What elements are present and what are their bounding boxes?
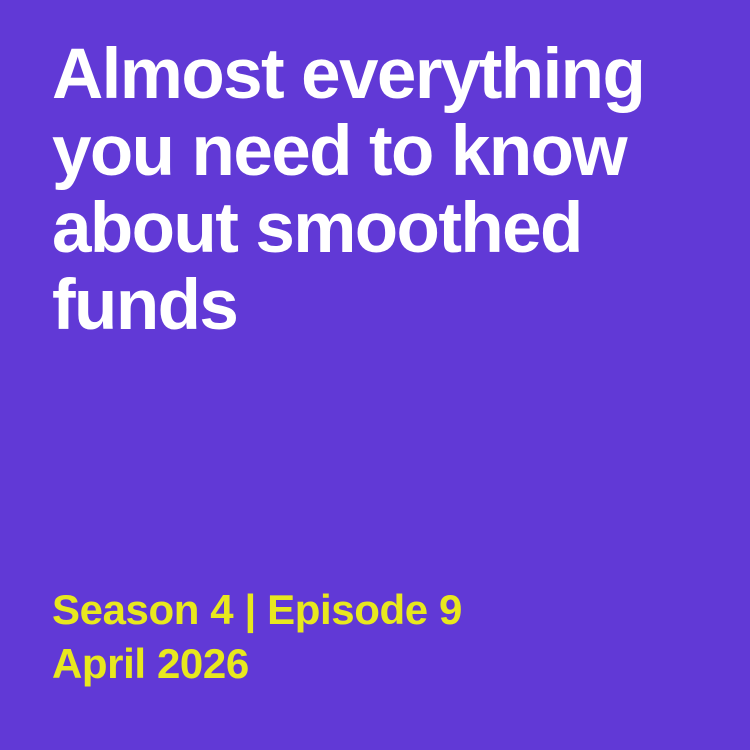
title-line-3: about smoothed: [52, 190, 724, 267]
title-line-1: Almost everything: [52, 36, 724, 113]
title-line-4: funds: [52, 267, 724, 344]
episode-meta: Season 4 | Episode 9 April 2026: [52, 583, 724, 691]
episode-date-label: April 2026: [52, 637, 724, 691]
season-episode-label: Season 4 | Episode 9: [52, 583, 724, 637]
title-line-2: you need to know: [52, 113, 724, 190]
podcast-episode-cover: Almost everything you need to know about…: [0, 0, 750, 750]
episode-title: Almost everything you need to know about…: [52, 36, 724, 344]
